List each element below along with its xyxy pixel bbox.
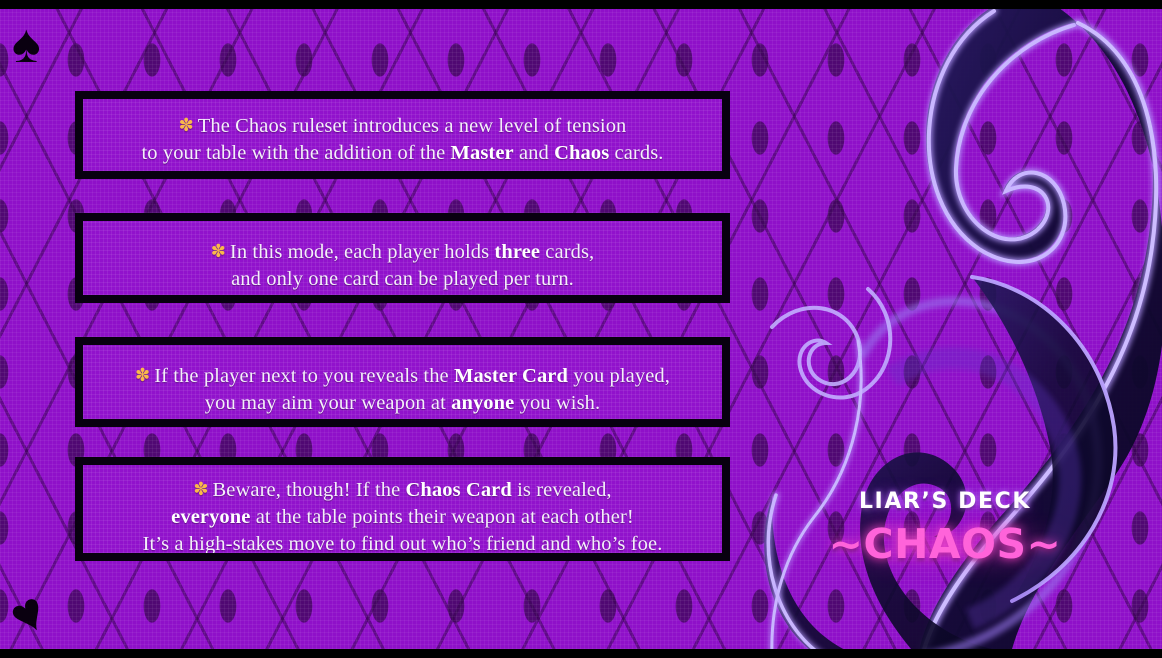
rule-text-line: to your table with the addition of the M… <box>101 140 704 167</box>
rule-text-run: cards. <box>609 142 663 164</box>
emphasised-term: Master Card <box>454 365 568 387</box>
rule-panel-1: ✽The Chaos ruleset introduces a new leve… <box>75 91 730 179</box>
rule-text-run: It’s a high-stakes move to find out who’… <box>143 533 663 555</box>
rule-text-run: In this mode, each player holds <box>230 241 495 263</box>
flower-bullet-icon: ✽ <box>211 241 226 262</box>
rule-panel-3-text: ✽If the player next to you reveals the M… <box>101 359 704 417</box>
rule-text-run: is revealed, <box>512 479 612 501</box>
rule-text-line: and only one card can be played per turn… <box>101 266 704 293</box>
stage: ♠ ♥ ✽The Chaos ruleset introduces a new … <box>0 9 1162 649</box>
rule-text-run: cards, <box>540 241 594 263</box>
rule-text-run: at the table points their weapon at each… <box>251 506 634 528</box>
rule-panel-2-text: ✽In this mode, each player holds three c… <box>101 235 704 293</box>
rule-panel-4-text: ✽Beware, though! If the Chaos Card is re… <box>101 477 704 558</box>
rule-text-run: and <box>514 142 554 164</box>
rule-text-run: you may aim your weapon at <box>205 392 451 414</box>
emphasised-term: Chaos <box>554 142 609 164</box>
rule-panel-3: ✽If the player next to you reveals the M… <box>75 337 730 427</box>
rule-text-line: ✽In this mode, each player holds three c… <box>101 239 704 266</box>
rule-panel-4: ✽Beware, though! If the Chaos Card is re… <box>75 457 730 561</box>
rule-text-run: and only one card can be played per turn… <box>231 268 574 290</box>
screen: ♠ ♥ ✽The Chaos ruleset introduces a new … <box>0 0 1162 658</box>
rule-text-line: ✽Beware, though! If the Chaos Card is re… <box>101 477 704 504</box>
rule-text-run: The Chaos ruleset introduces a new level… <box>198 115 627 137</box>
rule-text-line: ✽The Chaos ruleset introduces a new leve… <box>101 113 704 140</box>
flower-bullet-icon: ✽ <box>193 479 208 500</box>
flower-bullet-icon: ✽ <box>135 365 150 386</box>
rule-text-run: you played, <box>568 365 670 387</box>
rule-text-run: Beware, though! If the <box>213 479 406 501</box>
emphasised-term: Chaos Card <box>406 479 512 501</box>
rule-text-run: If the player next to you reveals the <box>154 365 454 387</box>
rule-text-run: to your table with the addition of the <box>141 142 450 164</box>
rule-text-line: ✽If the player next to you reveals the M… <box>101 363 704 390</box>
emphasised-term: three <box>494 241 540 263</box>
rule-panel-2: ✽In this mode, each player holds three c… <box>75 213 730 303</box>
rules-panel-list: ✽The Chaos ruleset introduces a new leve… <box>75 91 730 585</box>
rule-text-line: you may aim your weapon at anyone you wi… <box>101 390 704 417</box>
rule-text-run: you wish. <box>514 392 600 414</box>
spade-icon: ♠ <box>12 17 41 71</box>
flower-bullet-icon: ✽ <box>179 115 194 136</box>
rule-text-line: It’s a high-stakes move to find out who’… <box>101 531 704 558</box>
emphasised-term: everyone <box>171 506 250 528</box>
rule-panel-1-text: ✽The Chaos ruleset introduces a new leve… <box>101 113 704 167</box>
rule-text-line: everyone at the table points their weapo… <box>101 504 704 531</box>
emphasised-term: Master <box>451 142 514 164</box>
emphasised-term: anyone <box>451 392 514 414</box>
